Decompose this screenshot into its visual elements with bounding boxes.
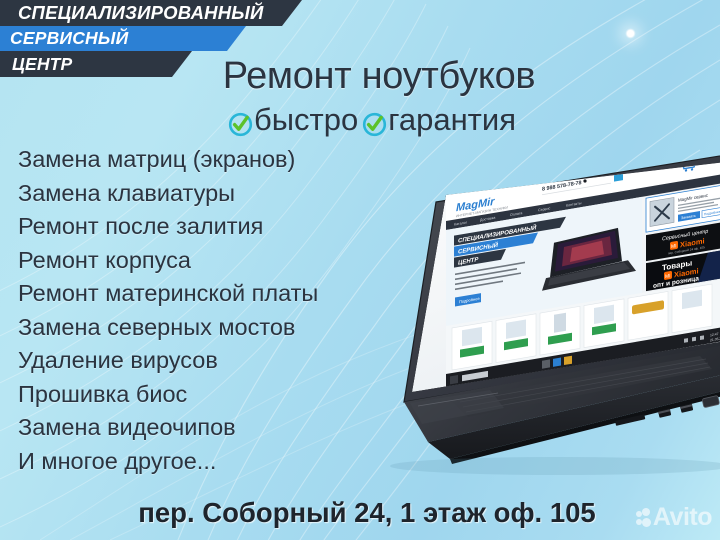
avito-wordmark: Avito [653, 503, 712, 532]
benefit-warranty-label: гарантия [388, 102, 516, 138]
page-title: Ремонт ноутбуков [0, 55, 720, 98]
benefit-fast-label: быстро [254, 102, 358, 138]
avito-dots-icon [636, 508, 651, 528]
ribbon-service: СЕРВИСНЫЙ [0, 26, 246, 51]
list-item: Ремонт материнской платы [18, 277, 378, 311]
list-item: Ремонт корпуса [18, 244, 378, 278]
list-item: Замена северных мостов [18, 311, 378, 345]
advertisement-poster: MagMir ИНТЕРНЕТ-МАГАЗИН ТЕХНИКИ 8 988 57… [0, 0, 720, 540]
list-item: Замена видеочипов [18, 411, 378, 445]
svg-text:MI: MI [671, 243, 677, 250]
list-item: Замена матриц (экранов) [18, 143, 378, 177]
glow-dot-decoration [625, 28, 636, 39]
list-item: Прошивка биос [18, 378, 378, 412]
svg-text:MI: MI [665, 273, 671, 280]
list-item: Ремонт после залития [18, 210, 378, 244]
avito-watermark: Avito [636, 503, 712, 532]
check-circle-icon [362, 109, 387, 134]
check-circle-icon [228, 109, 253, 134]
services-list: Замена матриц (экранов) Замена клавиатур… [18, 143, 378, 478]
ribbon-label: СПЕЦИАЛИЗИРОВАННЫЙ [18, 2, 263, 24]
ribbon-specialized: СПЕЦИАЛИЗИРОВАННЫЙ [0, 0, 302, 26]
benefits-line: быстро гарантия [0, 102, 720, 138]
address-text: пер. Соборный 24, 1 этаж оф. 105 [0, 497, 720, 529]
ribbon-label: СЕРВИСНЫЙ [10, 28, 128, 49]
list-item: И многое другое... [18, 445, 378, 479]
list-item: Замена клавиатуры [18, 177, 378, 211]
list-item: Удаление вирусов [18, 344, 378, 378]
